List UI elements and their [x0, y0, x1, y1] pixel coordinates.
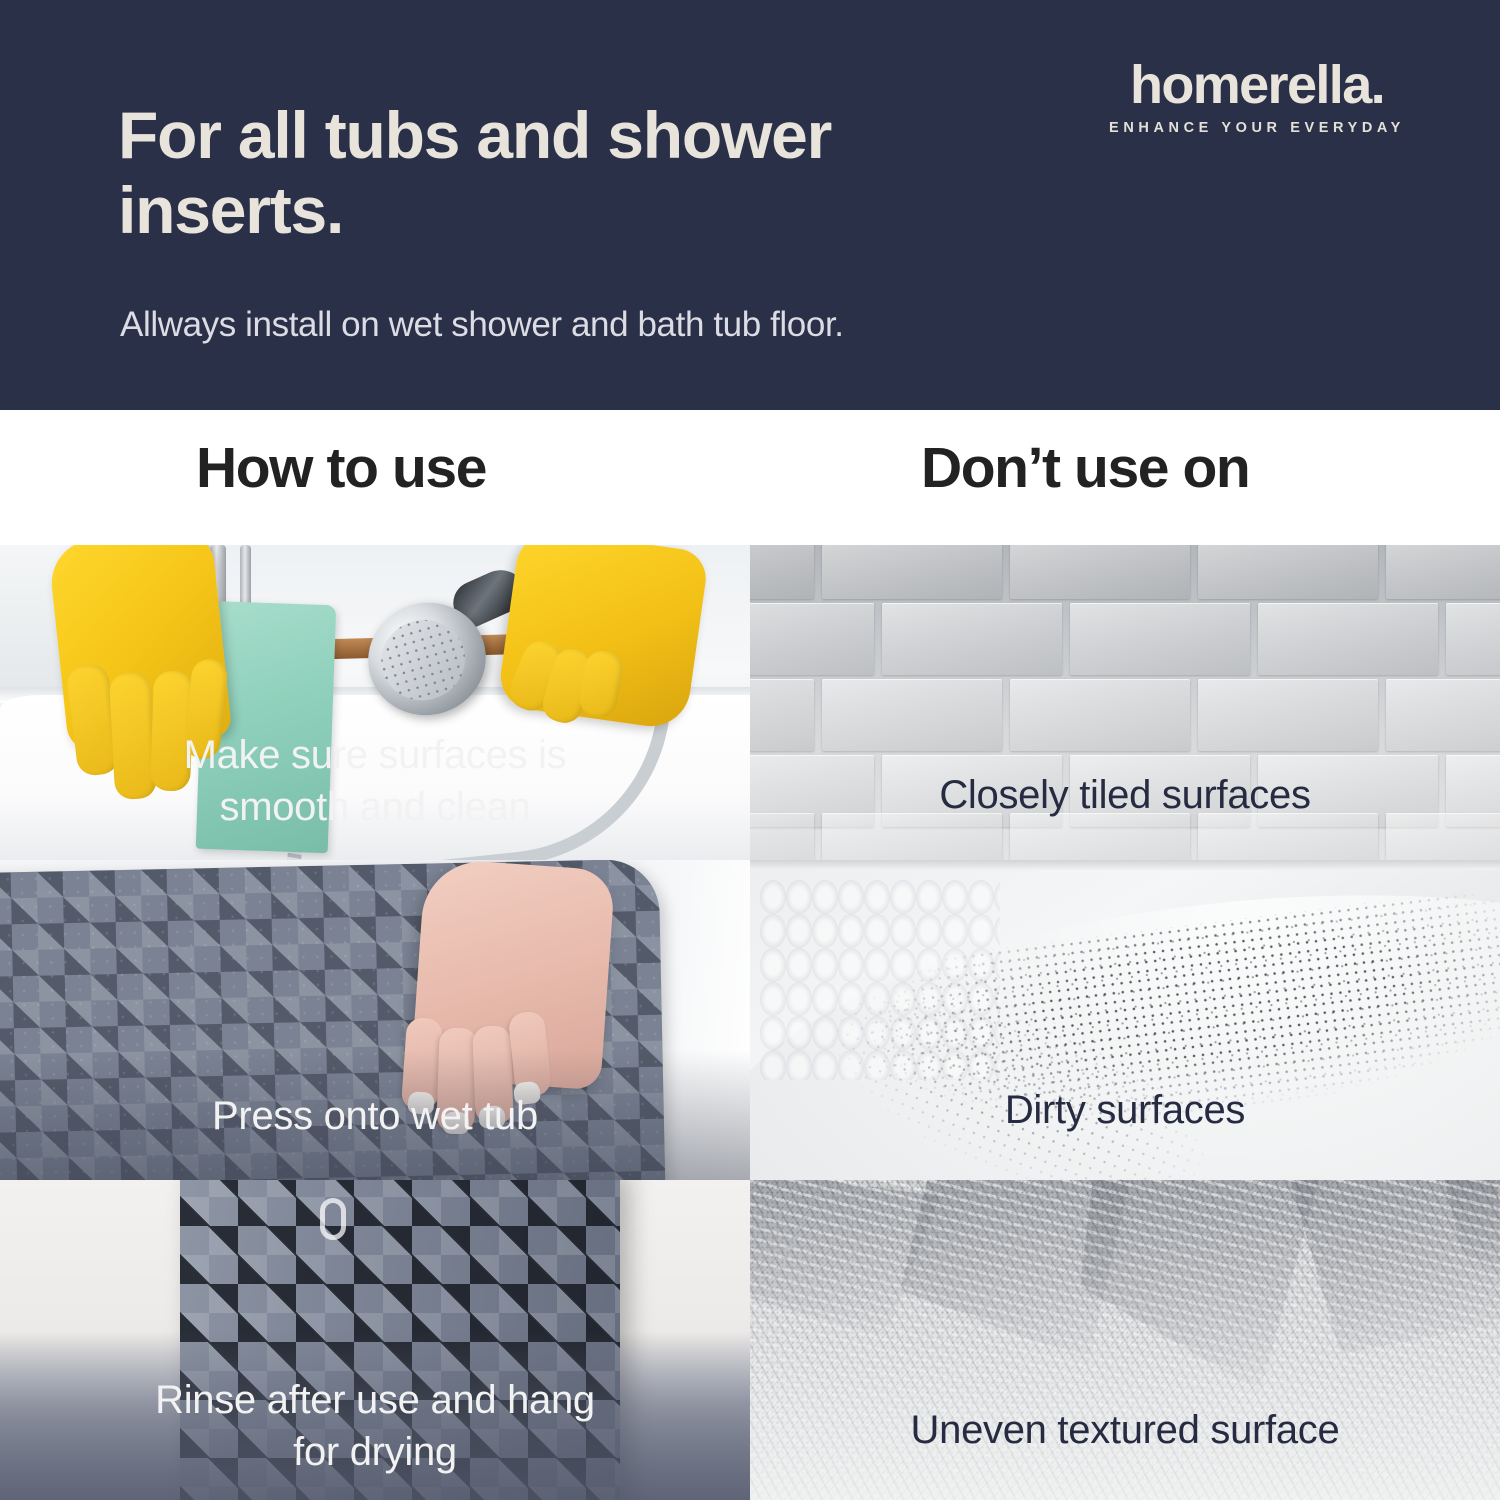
page-subline: Allways install on wet shower and bath t… — [120, 305, 844, 345]
panel-grid: Make sure surfaces is smooth and clean — [0, 545, 1500, 1500]
page-headline: For all tubs and shower inserts. — [118, 98, 838, 248]
panel-caption-line1: Dirty surfaces — [750, 1086, 1500, 1136]
panel-caption-line1: Rinse after use and hang — [0, 1376, 750, 1426]
panel-rinse-after-use: Rinse after use and hang for drying — [0, 1180, 750, 1500]
panel-caption-line1: Uneven textured surface — [750, 1406, 1500, 1456]
panel-press-onto-wet-tub: Press onto wet tub — [0, 860, 750, 1180]
panel-caption-line1: Press onto wet tub — [0, 1092, 750, 1142]
brand-logo: homerella. ENHANCE YOUR EVERYDAY — [1092, 58, 1422, 136]
panel-caption-line2: for drying — [0, 1428, 750, 1478]
header-band: For all tubs and shower inserts. Allways… — [0, 0, 1500, 410]
panel-closely-tiled-surfaces: Closely tiled surfaces — [750, 545, 1500, 860]
section-titles: How to use Don’t use on — [0, 410, 1500, 545]
infographic-page: For all tubs and shower inserts. Allways… — [0, 0, 1500, 1500]
panel-dirty-surfaces: Dirty surfaces — [750, 860, 1500, 1180]
panel-uneven-textured-surface: Uneven textured surface — [750, 1180, 1500, 1500]
panel-caption-line2: smooth and clean — [0, 783, 750, 833]
panel-caption-line1: Make sure surfaces is — [0, 731, 750, 781]
brand-tagline: ENHANCE YOUR EVERYDAY — [1092, 121, 1422, 136]
section-title-dont-use-on: Don’t use on — [921, 435, 1249, 501]
hook-icon — [320, 1198, 346, 1240]
panel-caption-line1: Closely tiled surfaces — [750, 771, 1500, 821]
brand-name: homerella. — [1092, 58, 1422, 112]
panel-make-sure-surfaces-clean: Make sure surfaces is smooth and clean — [0, 545, 750, 860]
section-title-how-to-use: How to use — [196, 435, 486, 501]
